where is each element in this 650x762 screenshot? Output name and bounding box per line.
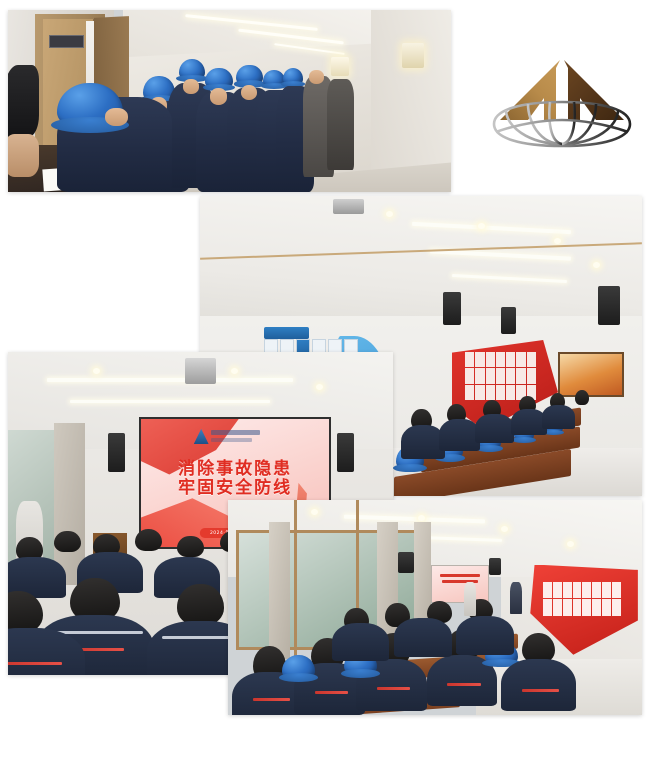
slide-title-line1: 消除事故隐患 [141, 460, 330, 480]
uniform-back-text [447, 683, 480, 686]
hard-hat [179, 59, 206, 81]
display-cell [602, 599, 611, 616]
display-cell [592, 582, 601, 599]
distant-projection-screen [431, 565, 489, 604]
hard-hat [283, 68, 303, 85]
display-cell [573, 582, 582, 599]
training-room-photo [228, 500, 642, 715]
ceiling-light-strip [47, 378, 293, 382]
ceiling-projector [185, 358, 216, 384]
corridor-signing-photo [8, 10, 451, 192]
hard-hat [236, 65, 263, 87]
corridor-scene [8, 10, 451, 192]
ceiling-light-strip [70, 400, 270, 403]
wall-speaker [501, 307, 516, 334]
down-light [386, 211, 393, 217]
hard-hat [205, 68, 232, 90]
audience-shoulders [456, 616, 514, 655]
audience-shoulders [439, 419, 480, 451]
hard-hat [282, 655, 315, 681]
slide-company-name-en [211, 438, 252, 442]
uniform-back-text [377, 687, 410, 690]
audience-shoulders [394, 618, 452, 657]
standing-person [464, 582, 476, 616]
audience-shoulders [542, 405, 575, 429]
ceiling-projector [333, 199, 364, 214]
uniform-back-text [522, 689, 559, 692]
down-light [554, 238, 561, 244]
display-cell [602, 582, 611, 599]
red-display-photo-grid [543, 582, 622, 616]
wall-sconce [402, 43, 424, 68]
standing-person [510, 582, 522, 614]
down-light [501, 526, 508, 532]
collage-canvas: 消除事故隐患 牢固安全防线 2024·年度安全培训会 [0, 0, 650, 762]
mountain-globe-logo [488, 48, 636, 148]
audience-head [135, 529, 162, 551]
audience-shoulders [501, 659, 576, 711]
audience-shoulders [475, 414, 513, 443]
wall-speaker [337, 433, 354, 472]
display-cell [563, 599, 572, 616]
wall-title-bar [264, 327, 309, 339]
display-cell [582, 582, 591, 599]
display-cell [543, 582, 552, 599]
display-cell [612, 599, 621, 616]
audience-head [575, 390, 589, 405]
audience-shoulders [332, 623, 390, 662]
display-cell [543, 599, 552, 616]
partial-person [8, 65, 39, 138]
display-cell [563, 582, 572, 599]
display-cell [573, 599, 582, 616]
wall-speaker [398, 552, 415, 574]
training-room-scene [228, 500, 642, 715]
display-cell [592, 599, 601, 616]
slide-company-name [211, 430, 260, 435]
wall-speaker [598, 286, 620, 325]
uniform-back-text [315, 691, 348, 694]
worker-face [241, 85, 258, 100]
logo-right-peak [564, 60, 624, 120]
down-light [311, 509, 318, 515]
worker-face [210, 88, 228, 104]
distant-slide-line1 [440, 574, 480, 578]
wall-speaker [108, 433, 125, 472]
window-curtain [269, 522, 290, 660]
uniform-back-text [8, 662, 62, 665]
wall-speaker [489, 558, 501, 575]
down-light [93, 368, 100, 374]
worker-face [183, 79, 199, 94]
audience-shoulders [401, 425, 445, 459]
uniform-back-text [253, 698, 290, 701]
wall-sconce [331, 57, 349, 75]
seated-audience [386, 364, 642, 496]
audience-head-front [177, 584, 223, 624]
display-cell [553, 599, 562, 616]
display-cell [582, 599, 591, 616]
audience-head [54, 531, 81, 553]
door-sign-plate [49, 35, 84, 48]
audience-head [177, 536, 204, 558]
partial-hand [8, 134, 39, 178]
display-cell [612, 582, 621, 599]
signing-worker-face [105, 108, 127, 126]
logo-left-peak [500, 60, 560, 120]
worker-body [327, 79, 354, 170]
wall-speaker [443, 292, 461, 325]
worker-face [309, 70, 324, 84]
display-cell [553, 582, 562, 599]
